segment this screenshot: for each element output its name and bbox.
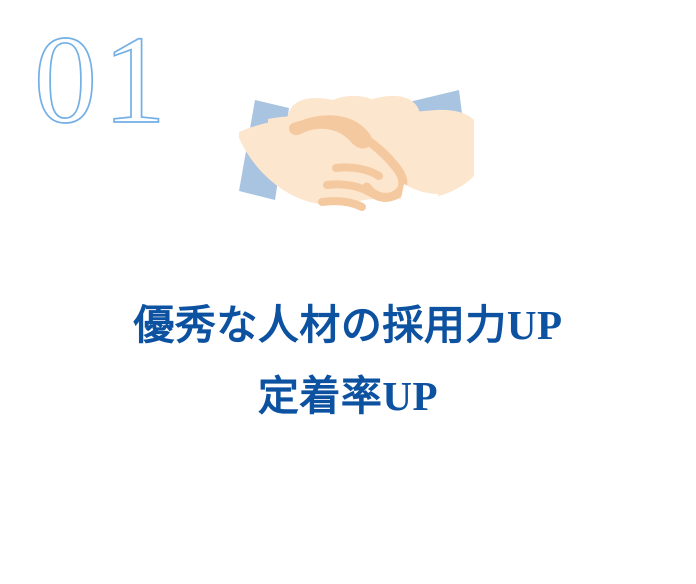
step-card: 01: [0, 0, 696, 584]
finger-line-3: [322, 201, 362, 207]
headline: 優秀な人材の採用力UP 定着率UP: [0, 290, 696, 431]
headline-line-2: 定着率UP: [0, 361, 696, 432]
handshake-illustration: [0, 72, 696, 222]
headline-line-1: 優秀な人材の採用力UP: [0, 290, 696, 361]
